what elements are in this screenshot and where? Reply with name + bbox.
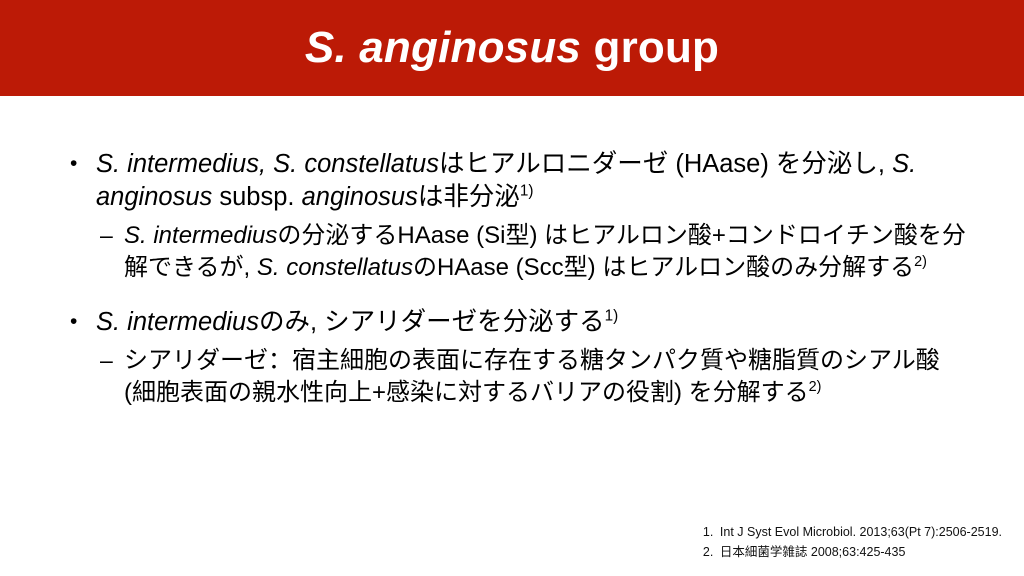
species-name: S. intermedius bbox=[124, 222, 277, 249]
footnote-number: 1. bbox=[703, 522, 720, 542]
reference-superscript: 1) bbox=[605, 308, 619, 325]
bullet-group-spacer bbox=[70, 284, 968, 306]
body-text: はヒアルロニダーゼ (HAase) を分泌し, bbox=[439, 150, 892, 178]
footnote-item: 1.Int J Syst Evol Microbiol. 2013;63(Pt … bbox=[703, 522, 1002, 542]
species-name: anginosus bbox=[302, 183, 418, 211]
body-text: subsp. bbox=[212, 183, 301, 211]
footnote-number: 2. bbox=[703, 542, 720, 562]
reference-superscript: 2) bbox=[914, 254, 927, 270]
bullet-text: S. intermediusのみ, シアリダーゼを分泌する1) bbox=[96, 306, 968, 339]
page-title-suffix: group bbox=[581, 23, 719, 72]
body-text: シアリダーゼ：宿主細胞の表面に存在する糖タンパク質や糖脂質のシアル酸 (細胞表面… bbox=[124, 347, 940, 406]
species-name: S. intermedius bbox=[96, 308, 259, 336]
bullet-item: •S. intermediusのみ, シアリダーゼを分泌する1) bbox=[70, 306, 968, 339]
reference-superscript: 2) bbox=[809, 379, 822, 395]
body-text: のHAase (Scc型) はヒアルロン酸のみ分解する bbox=[413, 254, 914, 281]
body-text: のみ, シアリダーゼを分泌する bbox=[259, 308, 605, 336]
footnote-citation: Int J Syst Evol Microbiol. 2013;63(Pt 7)… bbox=[720, 525, 1002, 539]
bullet-text: S. intermediusの分泌するHAase (Si型) はヒアルロン酸+コ… bbox=[124, 220, 968, 284]
slide-title-banner: S. anginosus group bbox=[0, 0, 1024, 96]
page-title-species: S. anginosus bbox=[305, 23, 581, 72]
footnote-citation: 日本細菌学雑誌 2008;63:425-435 bbox=[720, 545, 906, 559]
bullet-item: •S. intermedius, S. constellatusはヒアルロニダー… bbox=[70, 148, 968, 214]
page-title: S. anginosus group bbox=[305, 26, 719, 70]
footnote-references: 1.Int J Syst Evol Microbiol. 2013;63(Pt … bbox=[703, 522, 1002, 563]
reference-superscript: 1) bbox=[520, 183, 534, 200]
species-name: S. intermedius, S. constellatus bbox=[96, 150, 439, 178]
dash-marker-icon: – bbox=[100, 345, 124, 376]
bullet-text: シアリダーゼ：宿主細胞の表面に存在する糖タンパク質や糖脂質のシアル酸 (細胞表面… bbox=[124, 345, 968, 409]
sub-bullet-item: –S. intermediusの分泌するHAase (Si型) はヒアルロン酸+… bbox=[100, 220, 968, 284]
sub-bullet-item: –シアリダーゼ：宿主細胞の表面に存在する糖タンパク質や糖脂質のシアル酸 (細胞表… bbox=[100, 345, 968, 409]
bullet-list: •S. intermedius, S. constellatusはヒアルロニダー… bbox=[70, 148, 968, 409]
slide-body: •S. intermedius, S. constellatusはヒアルロニダー… bbox=[0, 96, 1024, 516]
bullet-text: S. intermedius, S. constellatusはヒアルロニダーゼ… bbox=[96, 148, 968, 214]
species-name: S. constellatus bbox=[257, 254, 413, 281]
bullet-marker-icon: • bbox=[70, 306, 96, 338]
dash-marker-icon: – bbox=[100, 220, 124, 251]
footnote-item: 2.日本細菌学雑誌 2008;63:425-435 bbox=[703, 542, 1002, 562]
footnote-list: 1.Int J Syst Evol Microbiol. 2013;63(Pt … bbox=[703, 522, 1002, 563]
body-text: は非分泌 bbox=[418, 183, 520, 211]
bullet-marker-icon: • bbox=[70, 148, 96, 180]
